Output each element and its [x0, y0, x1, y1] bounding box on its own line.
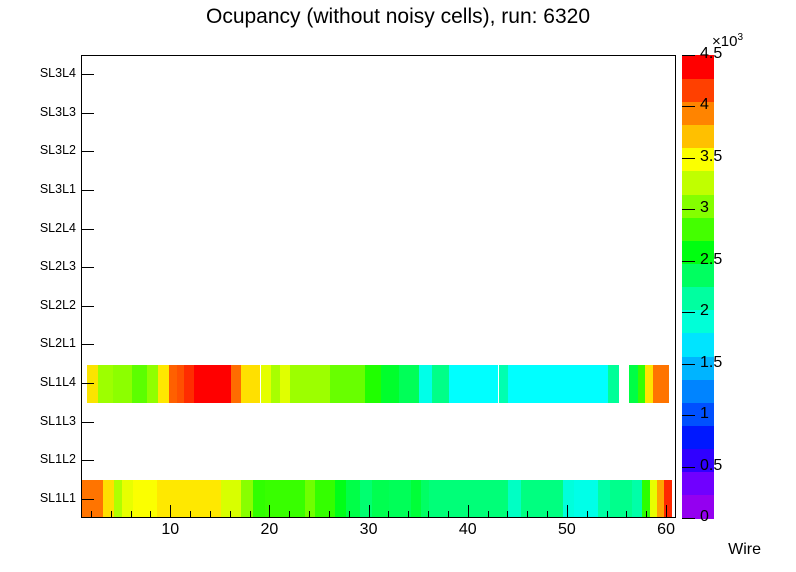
x-axis-tick-label-60: 60	[636, 521, 696, 539]
heatmap-cell	[650, 480, 657, 517]
color-bar-segment	[682, 171, 714, 195]
x-axis-minor-tick	[527, 511, 528, 518]
heatmap-plot-area[interactable]	[82, 56, 675, 517]
y-axis-tick	[81, 267, 94, 268]
heatmap-cell	[365, 365, 382, 404]
heatmap-cell	[184, 365, 194, 404]
heatmap-cell	[98, 365, 113, 404]
plot-frame	[81, 55, 676, 518]
color-bar-tick	[682, 364, 695, 365]
y-axis-tick-label-sl3l4: SL3L4	[6, 66, 76, 80]
color-bar-tick	[682, 312, 695, 313]
color-bar[interactable]	[682, 55, 714, 518]
x-axis-minor-tick	[507, 511, 508, 518]
y-axis-tick	[81, 306, 94, 307]
heatmap-cell	[261, 365, 272, 404]
heatmap-cell	[103, 480, 114, 517]
y-axis-tick-label-sl2l2: SL2L2	[6, 298, 76, 312]
heatmap-cell	[157, 480, 220, 517]
color-bar-segment	[682, 217, 714, 241]
x-axis-minor-tick	[488, 511, 489, 518]
heatmap-cell	[499, 365, 509, 404]
heatmap-cell	[194, 365, 231, 404]
heatmap-cell	[598, 480, 610, 517]
heatmap-cell	[114, 480, 122, 517]
y-axis-tick	[81, 74, 94, 75]
color-bar-segment	[682, 425, 714, 449]
x-axis-major-tick	[170, 505, 171, 518]
heatmap-cell	[632, 480, 642, 517]
heatmap-cell	[158, 365, 169, 404]
heatmap-cell	[360, 480, 372, 517]
x-axis-minor-tick	[388, 511, 389, 518]
color-bar-tick	[682, 106, 695, 107]
x-axis-minor-tick	[230, 511, 231, 518]
y-axis-tick-label-sl1l3: SL1L3	[6, 414, 76, 428]
chart-title: Ocupancy (without noisy cells), run: 632…	[0, 5, 796, 29]
x-axis-minor-tick	[91, 511, 92, 518]
heatmap-cell	[449, 365, 499, 404]
color-bar-tick	[682, 467, 695, 468]
heatmap-cell	[508, 365, 607, 404]
color-bar-segment	[682, 194, 714, 218]
y-axis-tick-label-sl2l3: SL2L3	[6, 259, 76, 273]
color-bar-segment	[682, 78, 714, 102]
x-axis-major-tick	[269, 505, 270, 518]
heatmap-cell	[330, 365, 365, 404]
heatmap-cell	[147, 365, 158, 404]
heatmap-cell	[653, 365, 669, 404]
y-axis-tick	[81, 383, 94, 384]
heatmap-cell	[432, 365, 449, 404]
color-bar-tick-label-0: 0	[700, 508, 709, 526]
x-axis-minor-tick	[309, 511, 310, 518]
color-bar-segment	[682, 101, 714, 125]
heatmap-cell	[645, 365, 653, 404]
x-axis-minor-tick	[131, 511, 132, 518]
color-bar-tick-label-1: 1	[700, 405, 709, 423]
heatmap-cell	[381, 365, 399, 404]
x-axis-major-tick	[468, 505, 469, 518]
color-bar-tick	[682, 158, 695, 159]
color-bar-tick	[682, 415, 695, 416]
color-bar-tick-label-3: 3	[700, 199, 709, 217]
heatmap-cell	[657, 480, 664, 517]
x-axis-minor-tick	[111, 511, 112, 518]
heatmap-cell	[608, 365, 620, 404]
heatmap-cell	[305, 480, 315, 517]
color-bar-exponent: ×103	[712, 32, 743, 50]
heatmap-cell	[271, 365, 280, 404]
chart-canvas: Ocupancy (without noisy cells), run: 632…	[0, 0, 796, 572]
x-axis-minor-tick	[646, 511, 647, 518]
heatmap-cell	[629, 365, 638, 404]
heatmap-cell	[419, 365, 432, 404]
heatmap-cell	[638, 365, 645, 404]
y-axis-tick	[81, 229, 94, 230]
x-axis-minor-tick	[150, 511, 151, 518]
y-axis-tick-label-sl1l1: SL1L1	[6, 491, 76, 505]
y-axis-tick-label-sl1l4: SL1L4	[6, 375, 76, 389]
x-axis-major-tick	[666, 505, 667, 518]
x-axis-tick-label-40: 40	[438, 521, 498, 539]
x-axis-tick-label-30: 30	[339, 521, 399, 539]
x-axis-minor-tick	[190, 511, 191, 518]
color-bar-tick	[682, 518, 695, 519]
y-axis-tick	[81, 344, 94, 345]
heatmap-cell	[253, 480, 266, 517]
heatmap-cell	[335, 480, 346, 517]
heatmap-cell	[231, 365, 241, 404]
y-axis-tick-label-sl2l4: SL2L4	[6, 221, 76, 235]
heatmap-cell	[315, 480, 335, 517]
x-axis-title: Wire	[728, 541, 761, 559]
color-bar-segment	[682, 472, 714, 496]
x-axis-minor-tick	[428, 511, 429, 518]
heatmap-cell	[563, 480, 574, 517]
heatmap-cell	[241, 365, 261, 404]
color-bar-tick	[682, 209, 695, 210]
heatmap-cell	[133, 480, 158, 517]
heatmap-cell	[574, 480, 598, 517]
y-axis-tick-label-sl3l2: SL3L2	[6, 143, 76, 157]
heatmap-cell	[169, 365, 177, 404]
y-axis-tick-label-sl3l3: SL3L3	[6, 105, 76, 119]
heatmap-cell	[177, 365, 184, 404]
x-axis-tick-label-10: 10	[140, 521, 200, 539]
x-axis-major-tick	[567, 505, 568, 518]
color-bar-tick	[682, 261, 695, 262]
y-axis-tick	[81, 460, 94, 461]
x-axis-minor-tick	[587, 511, 588, 518]
color-bar-segment	[682, 310, 714, 334]
color-bar-tick-label-2.5: 2.5	[700, 251, 722, 269]
x-axis-minor-tick	[349, 511, 350, 518]
x-axis-minor-tick	[448, 511, 449, 518]
y-axis-tick	[81, 151, 94, 152]
color-bar-segment	[682, 287, 714, 311]
color-bar-tick-label-1.5: 1.5	[700, 354, 722, 372]
color-bar-segment	[682, 124, 714, 148]
color-bar-tick-label-2: 2	[700, 302, 709, 320]
heatmap-cell	[290, 365, 330, 404]
y-axis-tick	[81, 499, 94, 500]
x-axis-major-tick	[369, 505, 370, 518]
color-bar-tick	[682, 55, 695, 56]
y-axis-tick	[81, 190, 94, 191]
heatmap-cell	[280, 365, 290, 404]
x-axis-minor-tick	[607, 511, 608, 518]
x-axis-tick-label-20: 20	[239, 521, 299, 539]
heatmap-cell	[610, 480, 633, 517]
x-axis-minor-tick	[329, 511, 330, 518]
y-axis-tick	[81, 113, 94, 114]
color-bar-tick-label-3.5: 3.5	[700, 148, 722, 166]
heatmap-cell	[508, 480, 521, 517]
x-axis-minor-tick	[210, 511, 211, 518]
heatmap-cell	[132, 365, 148, 404]
heatmap-cell	[113, 365, 132, 404]
heatmap-cell	[241, 480, 253, 517]
color-bar-segment	[682, 333, 714, 357]
color-bar-tick-label-0.5: 0.5	[700, 457, 722, 475]
heatmap-cell	[372, 480, 390, 517]
y-axis-tick-label-sl3l1: SL3L1	[6, 182, 76, 196]
x-axis-minor-tick	[626, 511, 627, 518]
color-bar-segment	[682, 495, 714, 519]
y-axis-tick	[81, 422, 94, 423]
y-axis-tick-label-sl2l1: SL2L1	[6, 336, 76, 350]
color-bar-tick-label-4: 4	[700, 96, 709, 114]
x-axis-minor-tick	[547, 511, 548, 518]
heatmap-cell	[399, 365, 419, 404]
x-axis-minor-tick	[289, 511, 290, 518]
x-axis-tick-label-50: 50	[537, 521, 597, 539]
heatmap-cell	[411, 480, 421, 517]
color-bar-segment	[682, 379, 714, 403]
y-axis-tick-label-sl1l2: SL1L2	[6, 452, 76, 466]
x-axis-minor-tick	[250, 511, 251, 518]
x-axis-minor-tick	[408, 511, 409, 518]
heatmap-cell	[265, 480, 305, 517]
